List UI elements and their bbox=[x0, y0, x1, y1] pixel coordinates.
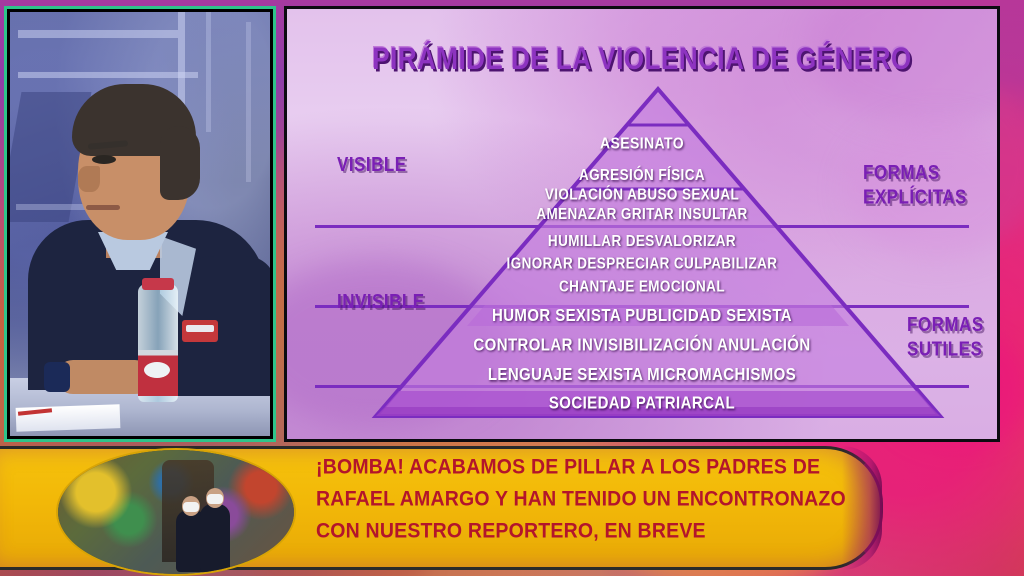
desk-papers bbox=[16, 404, 121, 432]
pyramid-layer-2-line-1: AGRESIÓN FÍSICA bbox=[287, 165, 997, 184]
face-mask-icon bbox=[207, 494, 223, 504]
guest-hair bbox=[160, 126, 200, 200]
studio-bar bbox=[18, 72, 198, 78]
guest-mouth bbox=[86, 205, 120, 210]
infographic-panel: PIRÁMIDE DE LA VIOLENCIA DE GÉNERO VISIB… bbox=[284, 6, 1000, 442]
pyramid-layer-4-line-1: HUMOR SEXISTA PUBLICIDAD SEXISTA bbox=[287, 302, 997, 332]
pyramid-layer-4-line-3: LENGUAJE SEXISTA MICROMACHISMOS bbox=[287, 361, 997, 391]
lower-third-headline: ¡BOMBA! ACABAMOS DE PILLAR A LOS PADRES … bbox=[316, 452, 864, 548]
video-panel-studio[interactable] bbox=[4, 6, 276, 442]
pyramid-layer-3-line-1: HUMILLAR DESVALORIZAR bbox=[287, 230, 997, 253]
pyramid-layer-4: HUMOR SEXISTA PUBLICIDAD SEXISTA CONTROL… bbox=[287, 302, 997, 391]
headline-line-1: ¡BOMBA! ACABAMOS DE PILLAR A LOS PADRES … bbox=[316, 452, 864, 484]
headline-line-2: RAFAEL AMARGO Y HAN TENIDO UN ENCONTRONA… bbox=[316, 484, 864, 516]
pyramid-layer-3: HUMILLAR DESVALORIZAR IGNORAR DESPRECIAR… bbox=[287, 230, 997, 298]
pyramid-layer-2-line-3: AMENAZAR GRITAR INSULTAR bbox=[287, 204, 997, 223]
guest-eye bbox=[92, 155, 116, 164]
guest-watch bbox=[44, 362, 70, 392]
pyramid-layer-1-line-1: ASESINATO bbox=[287, 134, 997, 152]
studio-bar bbox=[18, 30, 178, 38]
water-bottle-label bbox=[144, 362, 170, 378]
pyramid-layer-4-line-2: CONTROLAR INVISIBILIZACIÓN ANULACIÓN bbox=[287, 331, 997, 361]
inset-video-scene bbox=[58, 450, 294, 574]
pyramid-layer-2-line-2: VIOLACIÓN ABUSO SEXUAL bbox=[287, 185, 997, 204]
video-panel-inner bbox=[10, 12, 270, 436]
inset-person bbox=[200, 504, 230, 572]
guest-nose bbox=[78, 166, 100, 192]
pyramid-layer-2: AGRESIÓN FÍSICA VIOLACIÓN ABUSO SEXUAL A… bbox=[287, 165, 997, 223]
studio-bar bbox=[246, 22, 251, 182]
pyramid-layer-5-line-1: SOCIEDAD PATRIARCAL bbox=[287, 394, 997, 413]
studio-bar bbox=[206, 12, 211, 132]
inset-video-oval[interactable] bbox=[56, 448, 296, 576]
headline-line-3: CON NUESTRO REPORTERO, EN BREVE bbox=[316, 515, 864, 547]
broadcast-screen: PIRÁMIDE DE LA VIOLENCIA DE GÉNERO VISIB… bbox=[0, 0, 1024, 576]
pyramid-layer-3-line-2: IGNORAR DESPRECIAR CULPABILIZAR bbox=[287, 253, 997, 276]
face-mask-icon bbox=[183, 502, 199, 512]
pyramid-layer-1: ASESINATO bbox=[287, 134, 997, 152]
water-bottle-cap bbox=[142, 278, 174, 290]
sweater-logo bbox=[186, 325, 214, 332]
pyramid-layer-5: SOCIEDAD PATRIARCAL bbox=[287, 394, 997, 413]
pyramid-layer-3-line-3: CHANTAJE EMOCIONAL bbox=[287, 275, 997, 298]
